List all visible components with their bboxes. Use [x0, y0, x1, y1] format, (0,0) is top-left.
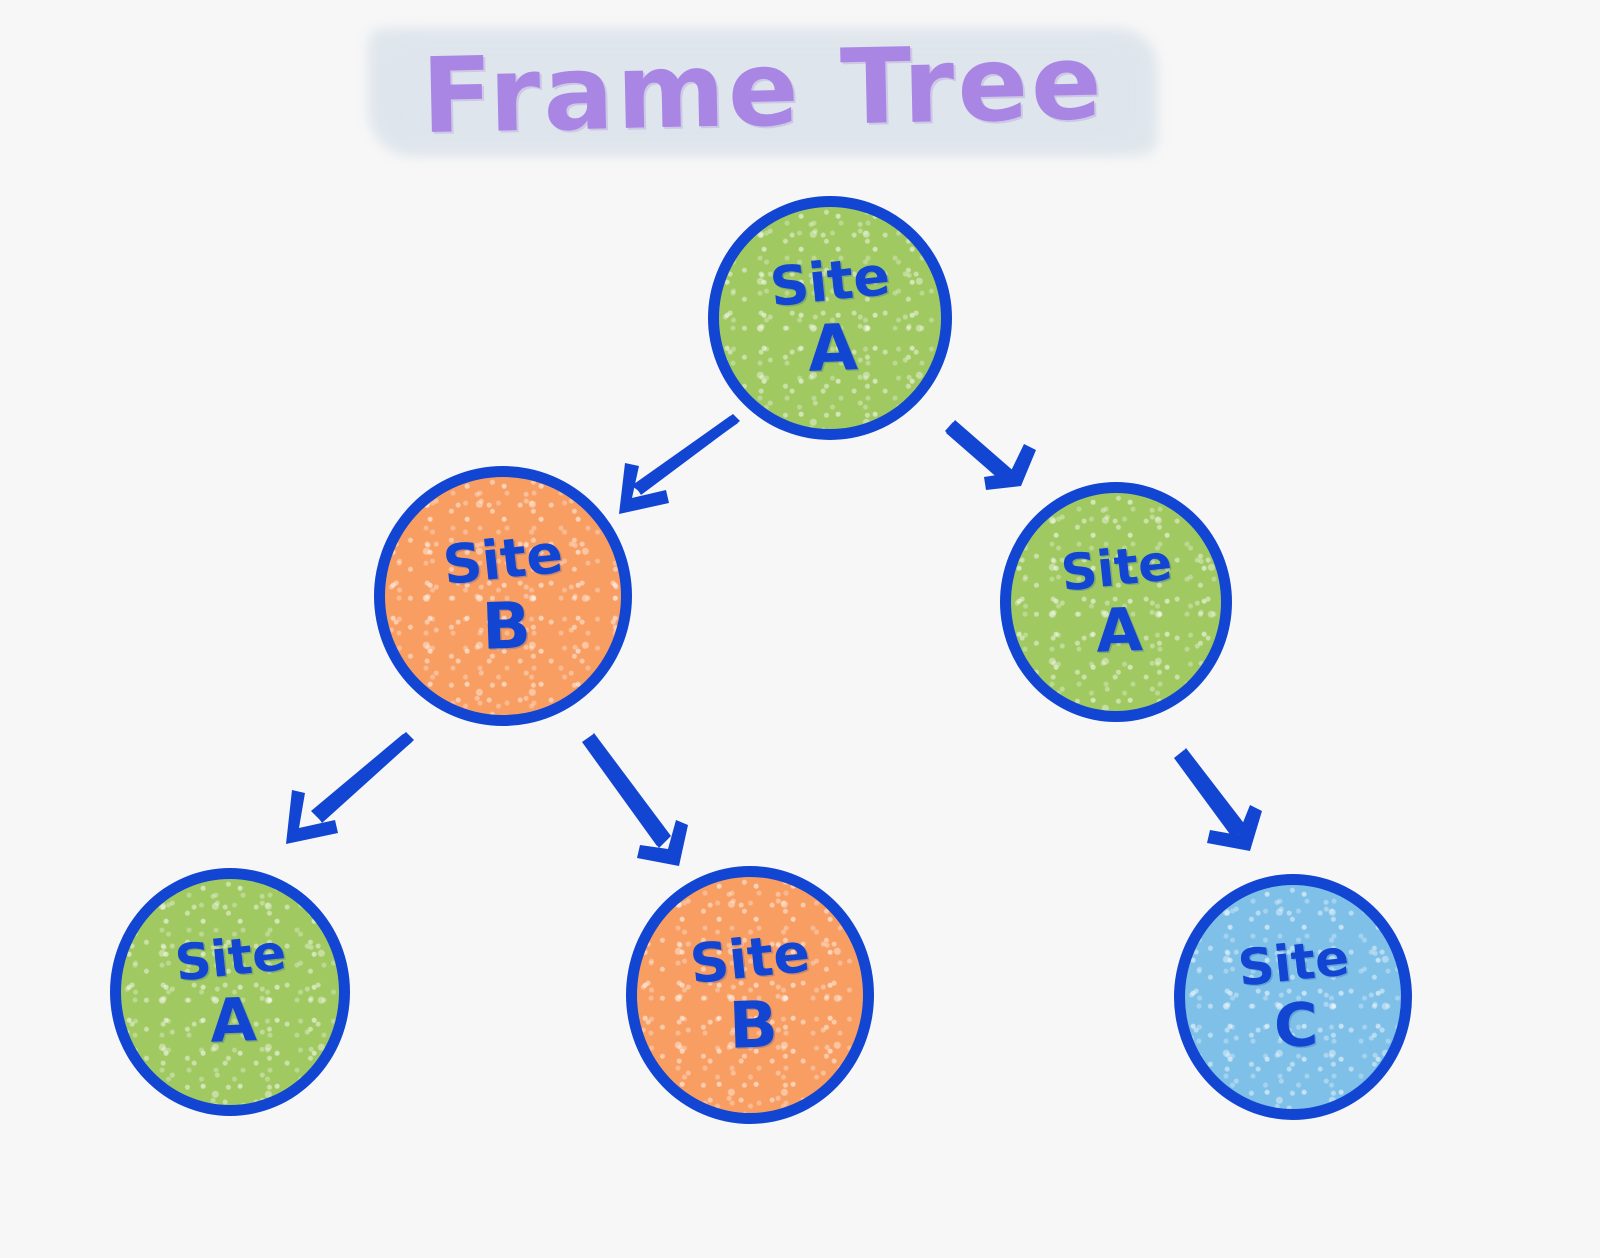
- node-site-b-level1[interactable]: Site B: [374, 466, 632, 726]
- node-label-top: Site: [688, 926, 813, 992]
- edge-root-to-site-a-right: [945, 420, 1036, 490]
- edge-site-b-to-site-b-bottom: [582, 733, 688, 866]
- node-label-top: Site: [441, 527, 566, 593]
- node-site-c-level2[interactable]: Site C: [1174, 874, 1412, 1120]
- node-site-a-root[interactable]: Site A: [708, 196, 952, 440]
- diagram-title: Frame Tree: [368, 18, 1158, 160]
- node-label-bottom: C: [1273, 995, 1319, 1057]
- node-site-a-level1[interactable]: Site A: [1000, 482, 1232, 722]
- node-label-top: Site: [172, 927, 288, 988]
- edge-site-a-right-to-site-c: [1174, 748, 1262, 851]
- node-label-top: Site: [1058, 537, 1174, 598]
- edge-site-b-to-site-a-bottom-left: [286, 732, 414, 844]
- node-label-top: Site: [768, 249, 893, 315]
- node-label-bottom: B: [481, 594, 532, 660]
- frame-tree-diagram: Frame Tree: [0, 0, 1600, 1258]
- node-label-bottom: B: [728, 993, 779, 1059]
- node-label-top: Site: [1235, 932, 1351, 993]
- page-title: Frame Tree: [367, 10, 1160, 169]
- node-site-a-level2[interactable]: Site A: [110, 868, 350, 1116]
- node-label-bottom: A: [209, 990, 258, 1052]
- edge-root-to-site-b: [619, 414, 740, 514]
- node-label-bottom: A: [1095, 600, 1144, 662]
- node-site-b-level2[interactable]: Site B: [626, 866, 874, 1124]
- node-label-bottom: A: [807, 316, 859, 382]
